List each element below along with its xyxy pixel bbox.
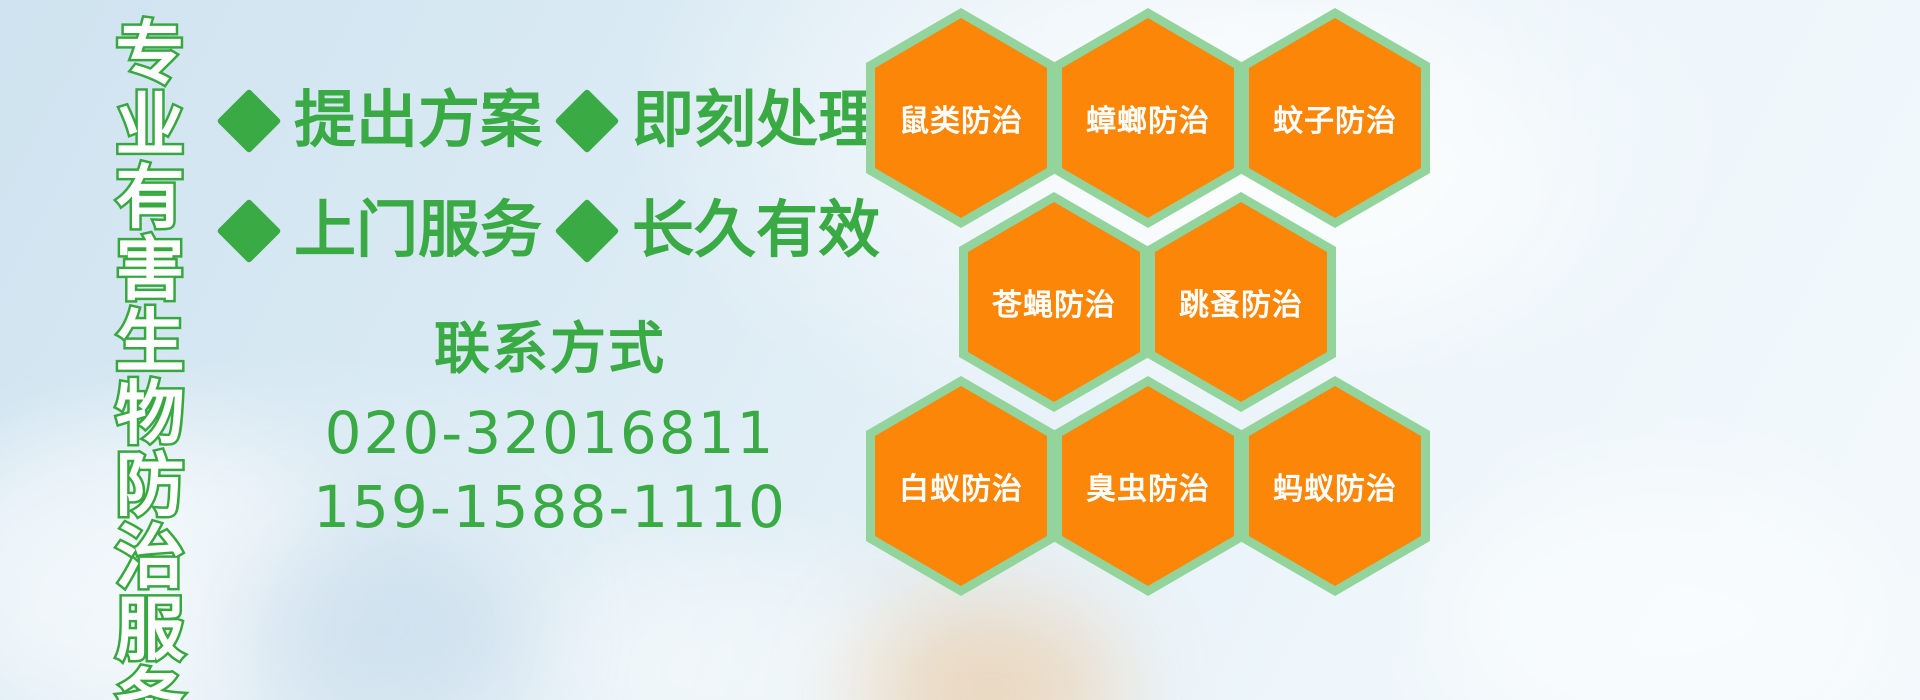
- promo-banner: 专 业 有 害 生 物 防 治 服 务 提出方案 即刻处理 上门服务 长久有效 …: [0, 0, 1920, 700]
- hex-label: 蚊子防治: [1273, 96, 1397, 140]
- background-blur-shape: [1430, 470, 1890, 700]
- vertical-headline-char: 务: [116, 666, 185, 700]
- vertical-headline-char: 服: [116, 594, 185, 666]
- vertical-headline-char: 有: [116, 162, 185, 234]
- phone-number-landline[interactable]: 020-32016811: [250, 396, 850, 470]
- hex-label: 臭虫防治: [1086, 464, 1210, 508]
- diamond-bullet-icon: [216, 198, 281, 263]
- vertical-headline-char: 专: [116, 18, 185, 90]
- diamond-bullet-icon: [554, 88, 619, 153]
- vertical-headline-char: 防: [116, 450, 185, 522]
- feature-list: 提出方案 即刻处理 上门服务 长久有效: [226, 78, 866, 298]
- hex-tile-termite[interactable]: 白蚁防治: [866, 376, 1056, 596]
- vertical-headline-char: 物: [116, 378, 185, 450]
- phone-number-mobile[interactable]: 159-1588-1110: [250, 470, 850, 544]
- feature-row: 提出方案 即刻处理: [226, 78, 866, 164]
- hex-label: 苍蝇防治: [992, 280, 1116, 324]
- diamond-bullet-icon: [216, 88, 281, 153]
- vertical-headline-char: 生: [116, 306, 185, 378]
- feature-label: 即刻处理: [632, 90, 880, 152]
- hex-label: 鼠类防治: [899, 96, 1023, 140]
- diamond-bullet-icon: [554, 198, 619, 263]
- feature-label: 长久有效: [632, 200, 880, 262]
- background-blur-shape: [860, 600, 1120, 700]
- vertical-headline-char: 业: [116, 90, 185, 162]
- hex-tile-bedbug[interactable]: 臭虫防治: [1053, 376, 1243, 596]
- vertical-headline-char: 害: [116, 234, 185, 306]
- feature-row: 上门服务 长久有效: [226, 188, 866, 274]
- contact-title: 联系方式: [250, 318, 850, 380]
- hex-label: 蚂蚁防治: [1273, 464, 1397, 508]
- hex-label: 跳蚤防治: [1179, 280, 1303, 324]
- feature-label: 上门服务: [294, 200, 542, 262]
- contact-block: 联系方式 020-32016811 159-1588-1110: [250, 318, 850, 544]
- vertical-headline: 专 业 有 害 生 物 防 治 服 务: [102, 18, 198, 683]
- hex-tile-ant[interactable]: 蚂蚁防治: [1240, 376, 1430, 596]
- vertical-headline-char: 治: [116, 522, 185, 594]
- hex-label: 蟑螂防治: [1086, 96, 1210, 140]
- background-blur-shape: [230, 520, 530, 700]
- service-hexagon-grid: 鼠类防治 蟑螂防治 蚊子防治 苍蝇防治 跳蚤防治 白蚁防治: [860, 0, 1460, 580]
- feature-label: 提出方案: [294, 90, 542, 152]
- hex-label: 白蚁防治: [899, 464, 1023, 508]
